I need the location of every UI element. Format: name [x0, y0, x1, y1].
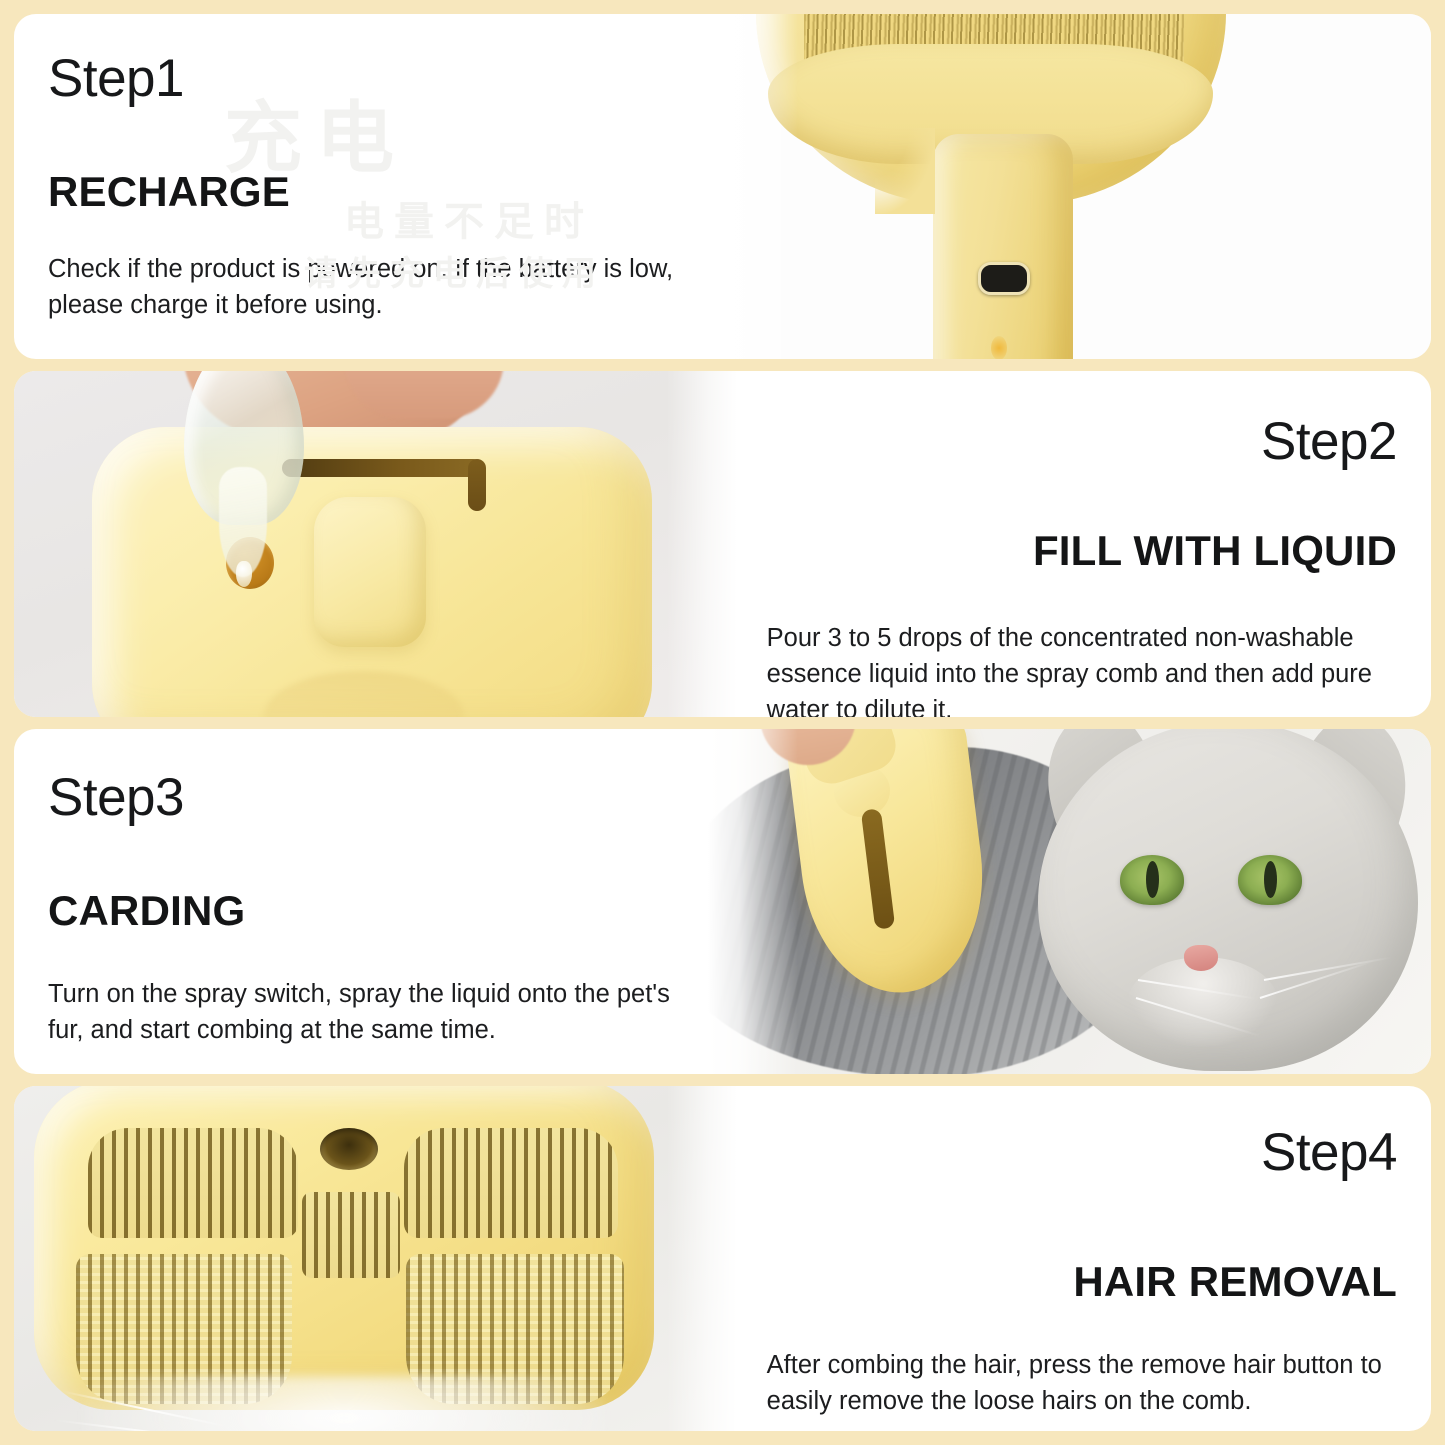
spray-nozzle-hole	[320, 1128, 378, 1170]
step-1-headline: RECHARGE	[48, 171, 678, 213]
cat-eye-right	[1238, 855, 1302, 905]
step-4-text-pane: Step4 HAIR REMOVAL After combing the hai…	[737, 1086, 1431, 1431]
hair-removal-photo	[14, 1086, 737, 1431]
fill-liquid-photo	[14, 371, 737, 716]
step-1-image	[708, 14, 1431, 359]
bristle-pad-center	[302, 1192, 400, 1278]
bristle-pad-upper-left	[88, 1128, 298, 1238]
usb-c-port-icon	[978, 262, 1030, 295]
step-card-4: Step4 HAIR REMOVAL After combing the hai…	[14, 1086, 1431, 1431]
step-4-body: After combing the hair, press the remove…	[767, 1347, 1397, 1419]
step-2-number: Step2	[1261, 415, 1397, 468]
step-1-number: Step1	[48, 52, 678, 105]
charging-led-icon	[991, 336, 1007, 359]
step-2-body: Pour 3 to 5 drops of the concentrated no…	[767, 620, 1397, 716]
step-3-number: Step3	[48, 771, 678, 824]
step-1-text-pane: 充电 电量不足时 请先充电后使用 Step1 RECHARGE Check if…	[14, 14, 708, 359]
step-3-body: Turn on the spray switch, spray the liqu…	[48, 976, 678, 1048]
fill-slot	[282, 459, 482, 477]
comb-handle	[933, 134, 1073, 359]
bristle-pad-upper-right	[404, 1128, 618, 1238]
cat-nose	[1184, 945, 1218, 971]
step-4-image	[14, 1086, 737, 1431]
step-2-headline: FILL WITH LIQUID	[1033, 530, 1397, 572]
instruction-infographic: 充电 电量不足时 请先充电后使用 Step1 RECHARGE Check if…	[0, 0, 1445, 1445]
comb-usb-photo	[708, 14, 1431, 359]
step-card-3: Step3 CARDING Turn on the spray switch, …	[14, 729, 1431, 1074]
step-card-2: Step2 FILL WITH LIQUID Pour 3 to 5 drops…	[14, 371, 1431, 716]
cat-combing-photo	[708, 729, 1431, 1074]
step-2-image	[14, 371, 737, 716]
step-3-text-pane: Step3 CARDING Turn on the spray switch, …	[14, 729, 708, 1074]
step-1-body: Check if the product is powered on. If t…	[48, 251, 678, 323]
cat-eye-left	[1120, 855, 1184, 905]
step-4-number: Step4	[1261, 1126, 1397, 1179]
step-card-1: 充电 电量不足时 请先充电后使用 Step1 RECHARGE Check if…	[14, 14, 1431, 359]
step-3-image	[708, 729, 1431, 1074]
step-2-text-pane: Step2 FILL WITH LIQUID Pour 3 to 5 drops…	[737, 371, 1431, 716]
step-4-headline: HAIR REMOVAL	[1073, 1261, 1397, 1303]
step-3-headline: CARDING	[48, 890, 678, 932]
loose-hair-pile	[84, 1376, 604, 1431]
spray-knob	[314, 497, 426, 647]
